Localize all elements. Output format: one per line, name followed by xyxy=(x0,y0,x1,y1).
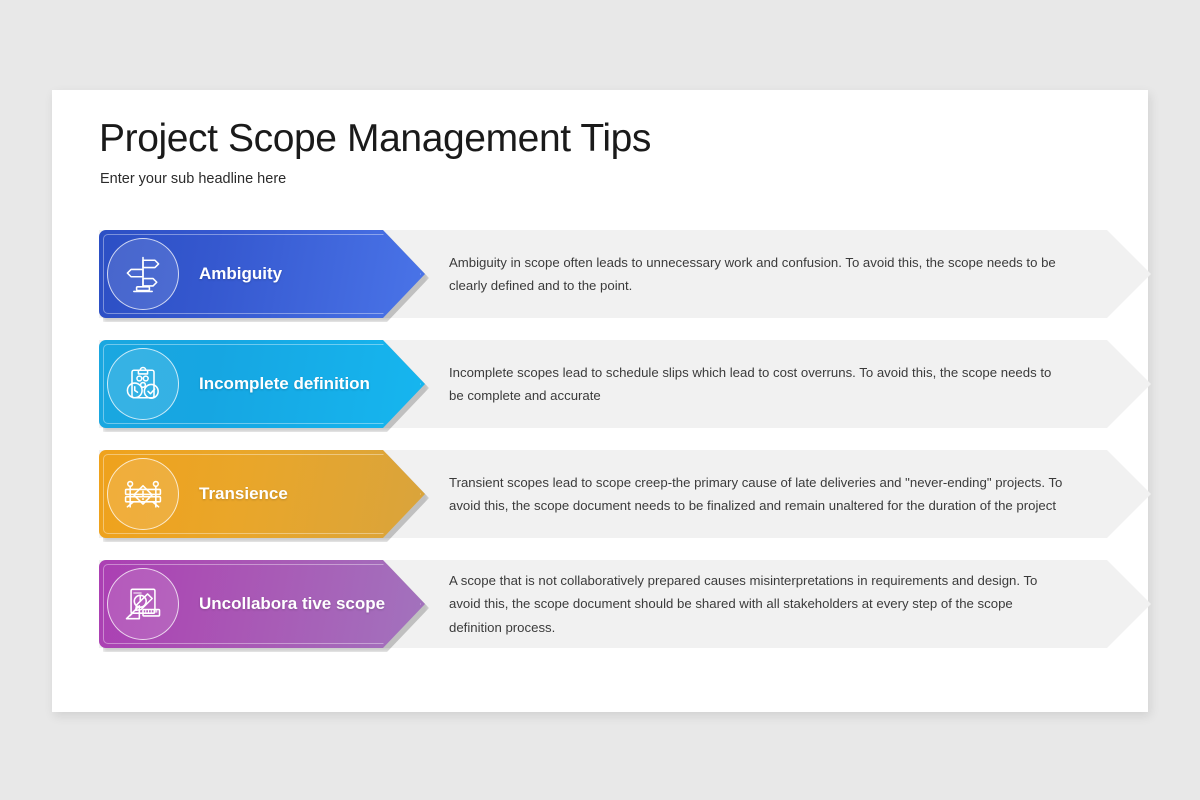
slide-card: Project Scope Management Tips Enter your… xyxy=(52,90,1148,712)
row-body-text: Transient scopes lead to scope creep-the… xyxy=(449,450,1069,538)
row-banner[interactable]: Ambiguity xyxy=(99,230,425,318)
clipboard-clock-check-icon xyxy=(107,348,179,420)
row-banner[interactable]: Incomplete definition xyxy=(99,340,425,428)
row-banner[interactable]: Uncollabora tive scope xyxy=(99,560,425,648)
barricade-warning-icon xyxy=(107,458,179,530)
row-banner[interactable]: Transience xyxy=(99,450,425,538)
banner-label: Uncollabora tive scope xyxy=(199,560,389,648)
banner-label: Ambiguity xyxy=(199,230,389,318)
tip-row-uncollaborative-scope[interactable]: Uncollabora tive scope A scope that is n… xyxy=(99,560,1151,648)
row-body-text: Incomplete scopes lead to schedule slips… xyxy=(449,340,1069,428)
page-subtitle: Enter your sub headline here xyxy=(100,171,286,187)
row-body-text: A scope that is not collaboratively prep… xyxy=(449,560,1069,648)
banner-label: Transience xyxy=(199,450,389,538)
tip-row-ambiguity[interactable]: Ambiguity Ambiguity in scope often leads… xyxy=(99,230,1151,318)
banner-label: Incomplete definition xyxy=(199,340,389,428)
drafting-design-icon xyxy=(107,568,179,640)
signpost-icon xyxy=(107,238,179,310)
page-title: Project Scope Management Tips xyxy=(99,117,651,161)
tip-row-transience[interactable]: Transience Transient scopes lead to scop… xyxy=(99,450,1151,538)
row-body-text: Ambiguity in scope often leads to unnece… xyxy=(449,230,1069,318)
tip-row-incomplete-definition[interactable]: Incomplete definition Incomplete scopes … xyxy=(99,340,1151,428)
